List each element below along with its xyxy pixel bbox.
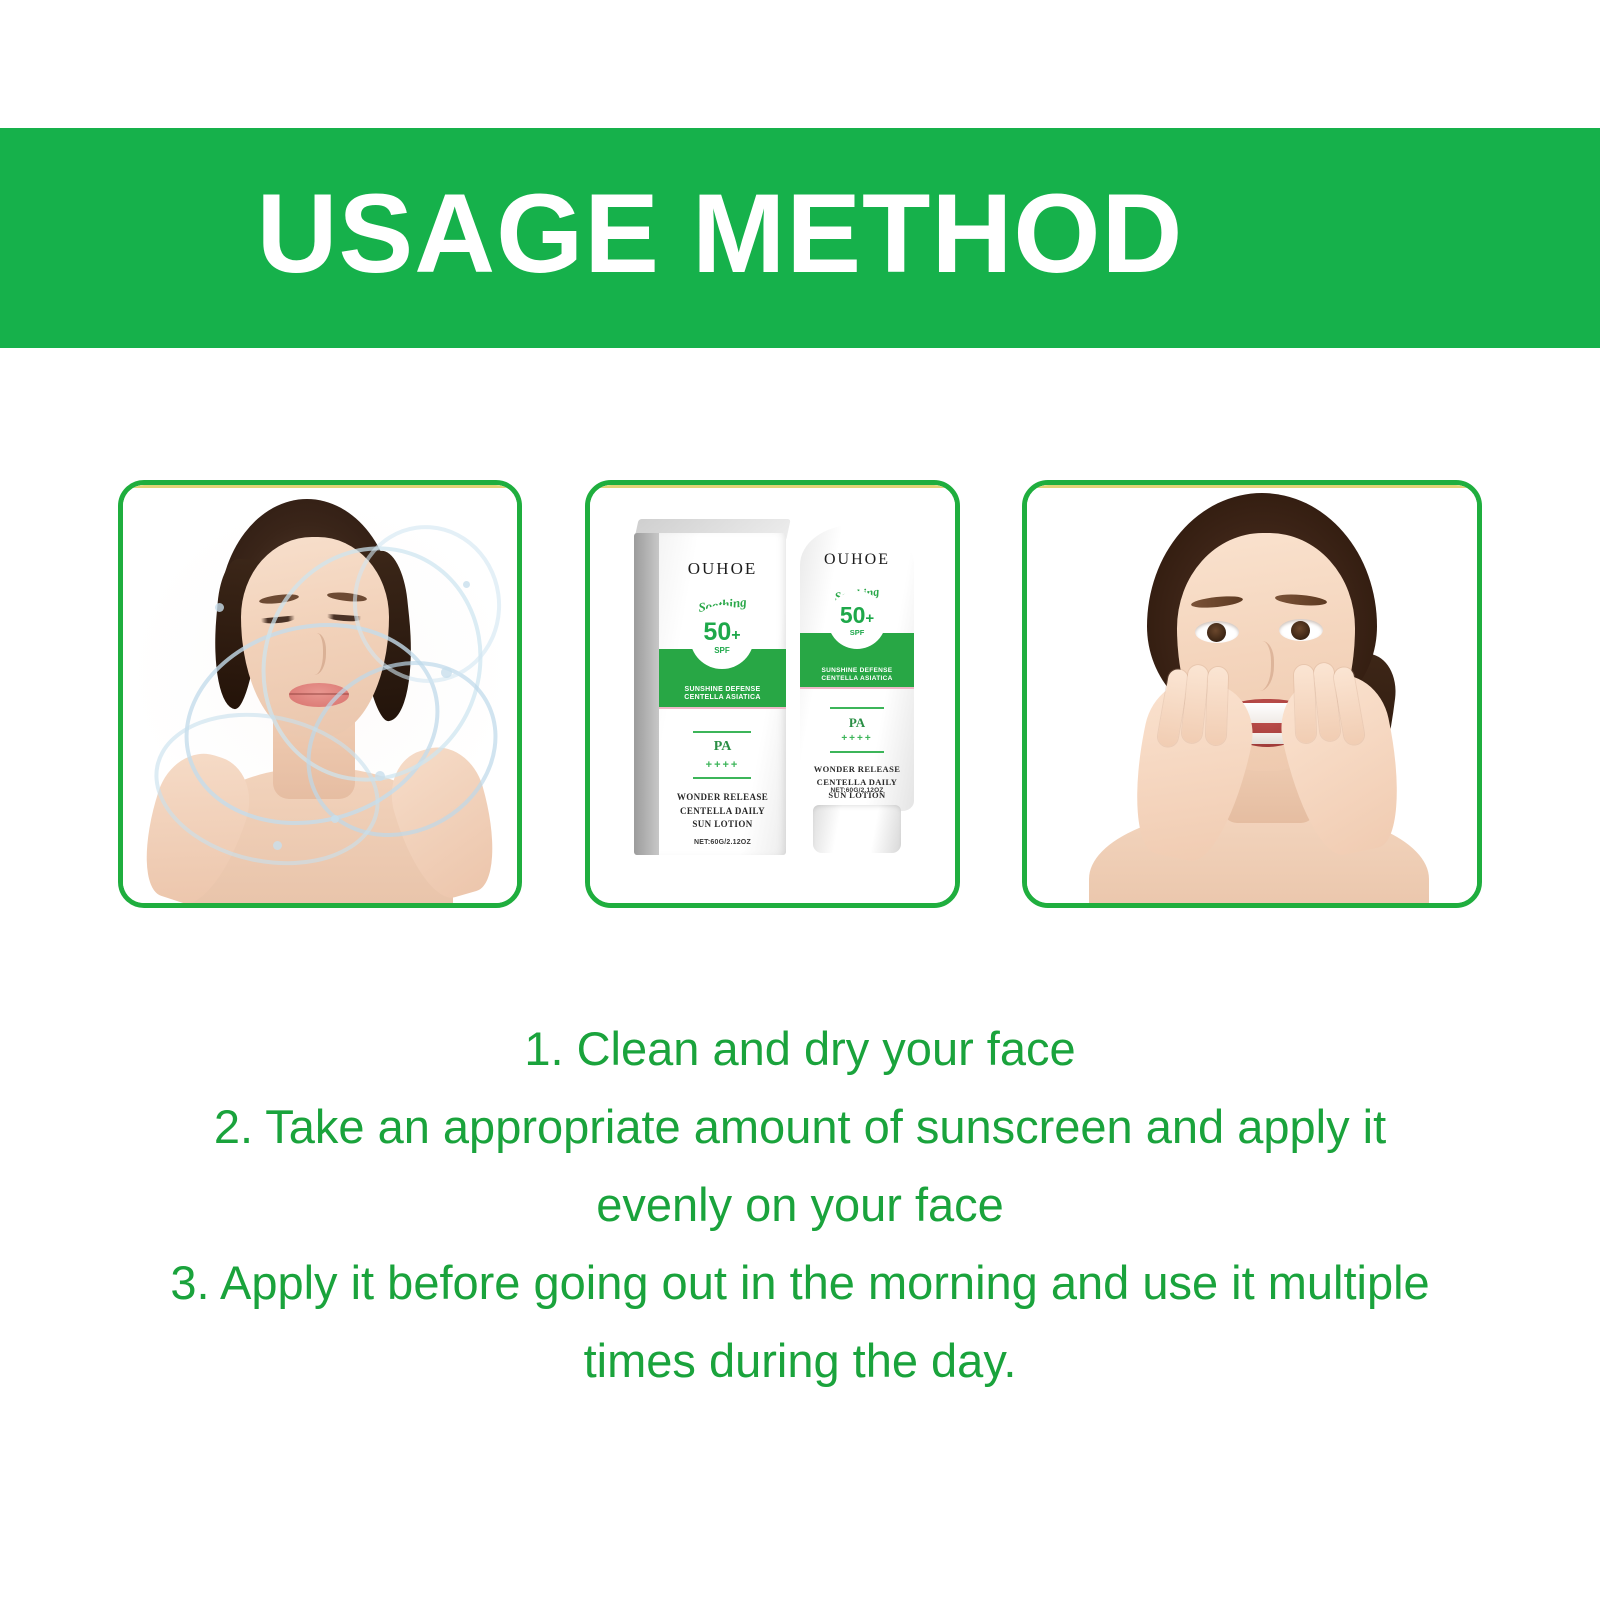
tube-brand-label: OUHOE <box>800 551 914 569</box>
box-brand-label: OUHOE <box>659 559 786 579</box>
box-name-line-2: CENTELLA DAILY <box>659 805 786 819</box>
tube-name-line-1: WONDER RELEASE <box>800 763 914 776</box>
instruction-line-3-cont: times during the day. <box>90 1322 1510 1400</box>
box-front-face: OUHOE Soothing SUNSHINE DEFENSE CENTELLA… <box>659 533 786 855</box>
left-iris <box>1207 623 1226 642</box>
right-eye <box>1279 619 1323 641</box>
photo-frame-step-2: OUHOE Soothing SUNSHINE DEFENSE CENTELLA… <box>585 480 960 908</box>
nose-shape <box>1245 641 1274 691</box>
product-box: OUHOE Soothing SUNSHINE DEFENSE CENTELLA… <box>634 519 786 855</box>
box-pa-label: PA <box>659 739 786 755</box>
tube-cap <box>813 805 901 853</box>
box-claim-line-1: SUNSHINE DEFENSE <box>685 686 761 695</box>
water-drop-2 <box>441 667 452 678</box>
tube-spf-value: 50+ <box>840 604 874 627</box>
box-spf-value: 50+ <box>703 620 740 645</box>
box-net-weight: NET:60G/2.12OZ <box>659 839 786 846</box>
water-drop-5 <box>273 841 282 850</box>
left-eye <box>1195 621 1239 643</box>
right-finger-1 <box>1294 665 1317 744</box>
tube-claim-line-1: SUNSHINE DEFENSE <box>822 667 893 675</box>
photo-frame-step-1 <box>118 480 522 908</box>
tube-pa-plus: ++++ <box>800 733 914 744</box>
tube-net-weight: NET:60G/2.12OZ <box>800 787 914 794</box>
box-pa-plus: ++++ <box>659 759 786 771</box>
water-drop-1 <box>215 603 224 612</box>
box-rule-top <box>693 731 751 733</box>
tube-product-name: WONDER RELEASE CENTELLA DAILY SUN LOTION <box>800 763 914 801</box>
box-name-line-1: WONDER RELEASE <box>659 791 786 805</box>
header-banner: USAGE METHOD <box>0 128 1600 348</box>
box-pink-line <box>659 707 786 709</box>
tube-claim-line-2: CENTELLA ASIATICA <box>821 675 892 683</box>
instruction-line-2: 2. Take an appropriate amount of sunscre… <box>90 1088 1510 1166</box>
box-spf-badge: 50+ SPF <box>690 605 754 669</box>
tube-rule-bottom <box>830 751 884 753</box>
instruction-list: 1. Clean and dry your face 2. Take an ap… <box>90 1010 1510 1400</box>
box-rule-bottom <box>693 777 751 779</box>
instruction-line-2-cont: evenly on your face <box>90 1166 1510 1244</box>
box-claim-line-2: CENTELLA ASIATICA <box>684 694 760 703</box>
step-2-product-image: OUHOE Soothing SUNSHINE DEFENSE CENTELLA… <box>590 485 955 903</box>
box-side-face <box>634 533 660 855</box>
instruction-line-3: 3. Apply it before going out in the morn… <box>90 1244 1510 1322</box>
tube-spf-badge: 50+ SPF <box>828 591 886 649</box>
product-tube: OUHOE Soothing SUNSHINE DEFENSE CENTELLA… <box>800 525 914 853</box>
instruction-line-1: 1. Clean and dry your face <box>90 1010 1510 1088</box>
tube-body: OUHOE Soothing SUNSHINE DEFENSE CENTELLA… <box>800 525 914 811</box>
box-product-name: WONDER RELEASE CENTELLA DAILY SUN LOTION <box>659 791 786 832</box>
page-title: USAGE METHOD <box>257 178 1184 290</box>
step-3-happy-skin-image <box>1027 485 1477 903</box>
tube-spf-label: SPF <box>850 629 865 637</box>
left-finger-3 <box>1206 667 1229 746</box>
box-spf-label: SPF <box>714 647 730 655</box>
water-drop-4 <box>375 771 385 781</box>
right-iris <box>1291 621 1310 640</box>
step-1-cleansing-image <box>123 485 517 903</box>
tube-pink-line <box>800 687 914 689</box>
photo-row: OUHOE Soothing SUNSHINE DEFENSE CENTELLA… <box>118 480 1482 908</box>
water-drop-3 <box>331 815 339 823</box>
tube-pa-label: PA <box>800 715 914 731</box>
photo-frame-step-3 <box>1022 480 1482 908</box>
tube-rule-top <box>830 707 884 709</box>
water-drop-6 <box>463 581 470 588</box>
box-name-line-3: SUN LOTION <box>659 818 786 832</box>
